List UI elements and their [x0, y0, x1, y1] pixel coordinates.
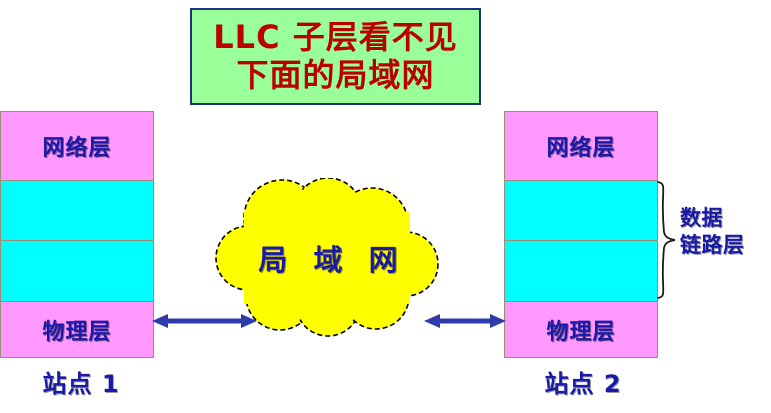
station-2-layer-network: 网络层: [505, 112, 657, 181]
station-1-stack: 网络层 物理层: [0, 111, 154, 358]
slide-canvas: LLC 子层看不见 下面的局域网 网络层 物理层 站点 1 网络层 物理层: [0, 0, 771, 413]
llc-callout-box: LLC 子层看不见 下面的局域网: [190, 8, 481, 105]
station-2-layer-physical-label: 物理层: [546, 314, 615, 346]
station-2-layer-physical: 物理层: [505, 302, 657, 357]
station-2-layer-llc: [505, 181, 657, 241]
station-2-layer-mac: [505, 241, 657, 302]
link-arrow-station1-lan-shape: [152, 310, 257, 332]
data-link-layer-annotation-line-1: 数据: [680, 205, 770, 232]
data-link-layer-brace-shape: [656, 180, 678, 300]
station-1-layer-mac: [1, 241, 153, 302]
station-2-layer-network-label: 网络层: [546, 130, 615, 162]
station-1-layer-network-label: 网络层: [42, 130, 111, 162]
link-arrow-lan-station2: [424, 310, 506, 332]
link-arrow-lan-station2-shape: [424, 310, 506, 332]
station-2-caption: 站点 2: [506, 364, 660, 399]
data-link-layer-annotation-line-2: 链路层: [680, 232, 770, 259]
data-link-layer-annotation: 数据 链路层: [680, 205, 770, 260]
data-link-layer-brace: [656, 180, 678, 300]
station-2-stack: 网络层 物理层: [504, 111, 658, 358]
link-arrow-station1-lan: [152, 310, 257, 332]
station-1-layer-physical: 物理层: [1, 302, 153, 357]
llc-callout-line-2: 下面的局域网: [236, 57, 434, 95]
station-1-layer-physical-label: 物理层: [42, 314, 111, 346]
station-1-caption: 站点 1: [4, 364, 158, 399]
station-1-layer-network: 网络层: [1, 112, 153, 181]
station-1-layer-llc: [1, 181, 153, 241]
llc-callout-line-1: LLC 子层看不见: [213, 19, 457, 57]
